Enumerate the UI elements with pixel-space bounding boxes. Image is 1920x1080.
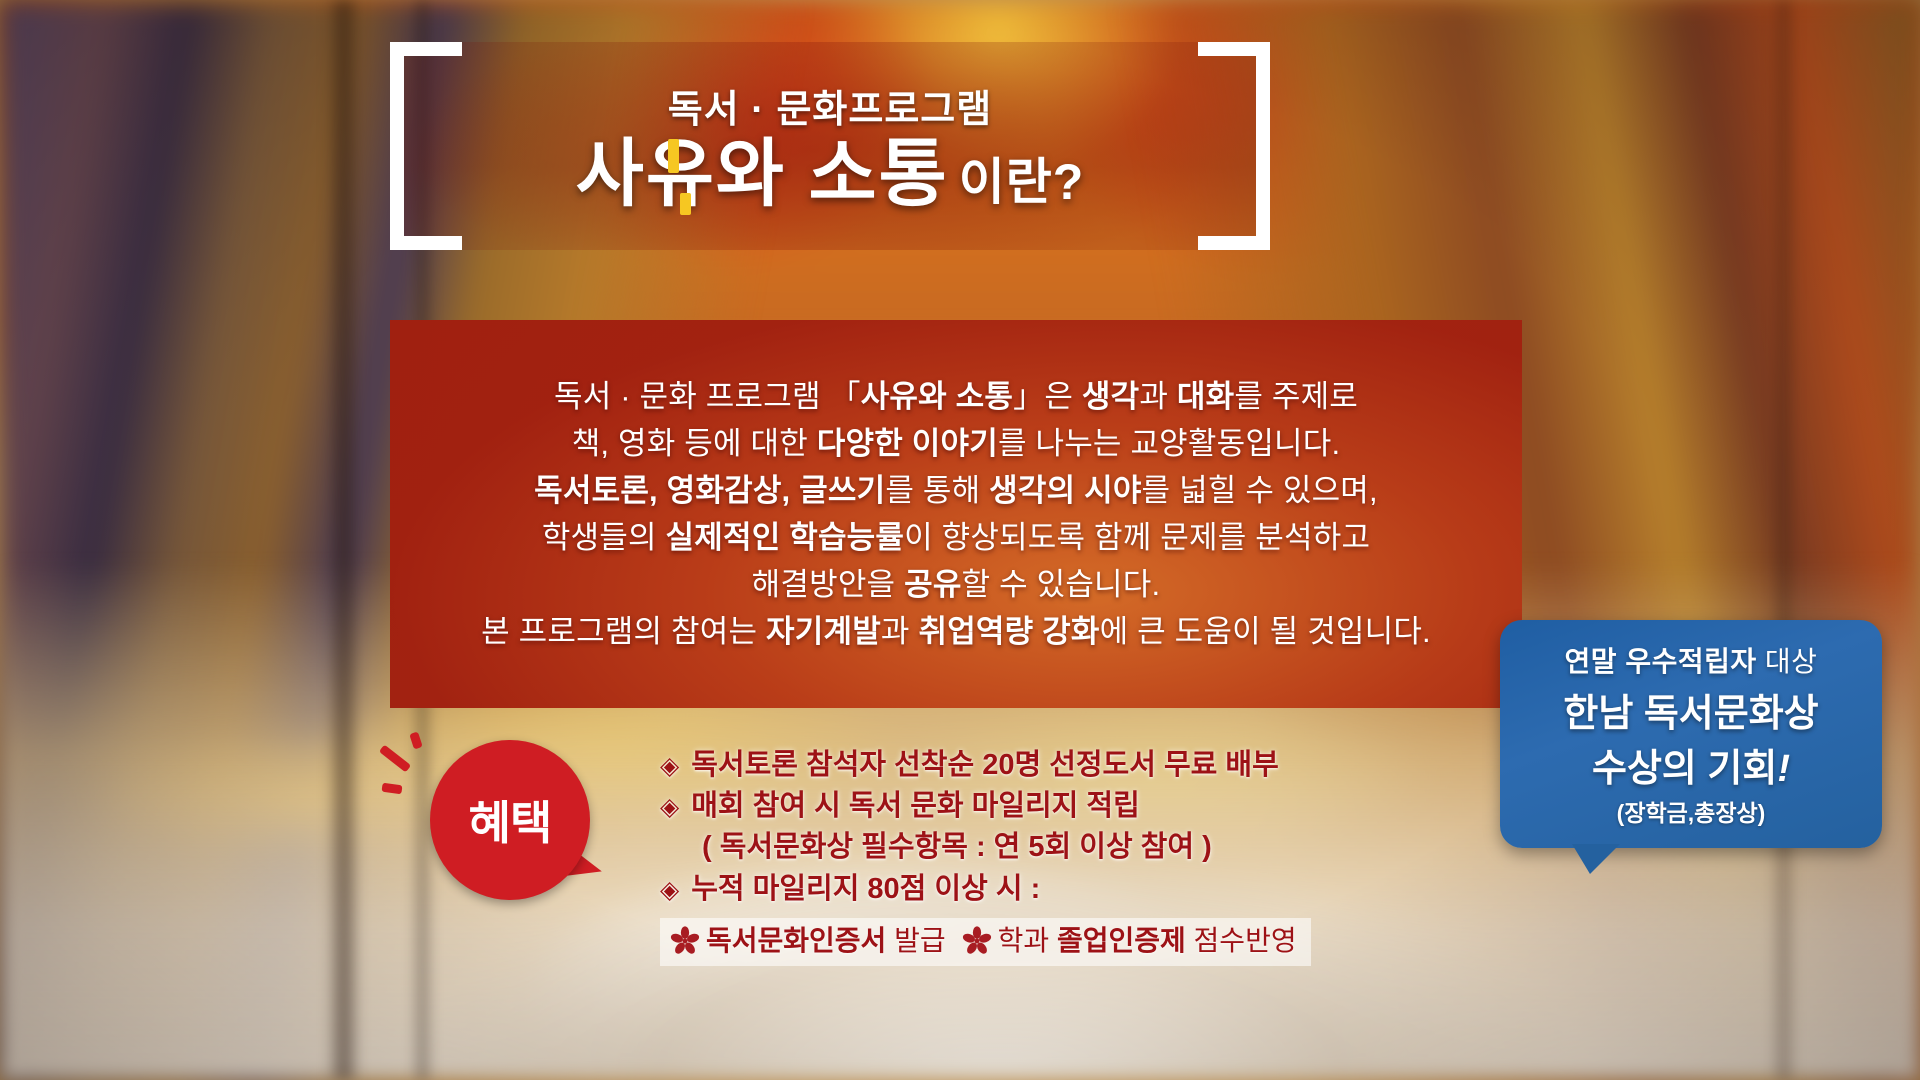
benefit-list-item: ◈독서토론 참석자 선착순 20명 선정도서 무료 배부 (660, 745, 1420, 786)
description-text: 를 넓힐 수 있으며, (1142, 473, 1378, 508)
award-bubble-line-2: 한남 독서문화상 (1516, 682, 1866, 737)
award-bubble-line-1-soft: 대상 (1757, 646, 1818, 677)
description-line: 해결방안을 공유할 수 있습니다. (752, 561, 1161, 608)
description-emphasis: 공유 (904, 567, 961, 602)
description-line: 독서토론, 영화감상, 글쓰기를 통해 생각의 시야를 넓힐 수 있으며, (534, 467, 1378, 514)
certification-text-1: 독서문화인증서 발급 (706, 924, 946, 958)
program-title: 사유와 소통 (576, 137, 949, 211)
description-line: 독서 · 문화 프로그램 「사유와 소통」은 생각과 대화를 주제로 (554, 373, 1358, 420)
description-text: 」은 (1013, 379, 1082, 414)
program-title-suffix: 이란? (959, 142, 1085, 214)
benefit-item-label: ( 독서문화상 필수항목 : 연 5회 이상 참여 ) (702, 827, 1212, 868)
certification-plain: 발급 (886, 925, 945, 956)
award-bubble-line-1: 연말 우수적립자 대상 (1516, 640, 1866, 680)
description-emphasis: 다양한 이야기 (817, 426, 998, 461)
award-speech-bubble: 연말 우수적립자 대상 한남 독서문화상 수상의 기회! (장학금,총장상) (1500, 620, 1882, 848)
description-text: 를 나누는 교양활동입니다. (998, 426, 1340, 461)
description-text: 학생들의 (542, 520, 666, 555)
certification-plain: 점수반영 (1186, 925, 1297, 956)
title-text-group: 독서 · 문화프로그램 사유와 소통 이란? (390, 42, 1270, 250)
description-line: 학생들의 실제적인 학습능률이 향상되도록 함께 문제를 분석하고 (542, 514, 1370, 561)
award-bubble-line-3: 수상의 기회! (1516, 737, 1866, 792)
description-text: 과 (881, 614, 919, 649)
certification-strip: 독서문화인증서 발급 학과 졸업인증제 점수반영 (660, 918, 1311, 966)
title-panel: 독서 · 문화프로그램 사유와 소통 이란? (390, 42, 1270, 250)
benefit-list: ◈독서토론 참석자 선착순 20명 선정도서 무료 배부◈매회 참여 시 독서 … (660, 745, 1420, 910)
certification-emphasis: 독서문화인증서 (706, 925, 886, 956)
program-subtitle: 독서 · 문화프로그램 (668, 78, 992, 133)
certification-item-1: 독서문화인증서 발급 (670, 924, 946, 958)
description-text: 과 (1139, 379, 1177, 414)
diamond-bullet-icon: ◈ (660, 795, 679, 820)
description-text: 할 수 있습니다. (962, 567, 1161, 602)
description-text: 독서 · 문화 프로그램 「 (554, 379, 861, 414)
certification-item-2: 학과 졸업인증제 점수반영 (962, 924, 1297, 958)
description-box: 독서 · 문화 프로그램 「사유와 소통」은 생각과 대화를 주제로책, 영화 … (390, 320, 1522, 708)
flower-icon (962, 926, 992, 956)
benefit-badge-label: 혜택 (469, 787, 552, 853)
certification-plain: 학과 (998, 925, 1057, 956)
description-emphasis: 생각 (1082, 379, 1139, 414)
benefit-item-label: 매회 참여 시 독서 문화 마일리지 적립 (691, 786, 1140, 827)
certification-text-2: 학과 졸업인증제 점수반영 (998, 924, 1297, 958)
benefit-item-label: 독서토론 참석자 선착순 20명 선정도서 무료 배부 (691, 745, 1279, 786)
poster-canvas: 독서 · 문화프로그램 사유와 소통 이란? 독서 · 문화 프로그램 「사유와… (0, 0, 1920, 1080)
certification-emphasis: 졸업인증제 (1057, 925, 1186, 956)
description-text: 에 큰 도움이 될 것입니다. (1100, 614, 1431, 649)
description-line: 본 프로그램의 참여는 자기계발과 취업역량 강화에 큰 도움이 될 것입니다. (481, 608, 1431, 655)
flower-icon (670, 926, 700, 956)
diamond-bullet-icon: ◈ (660, 878, 679, 903)
award-bubble-note: (장학금,총장상) (1516, 794, 1866, 828)
description-text: 책, 영화 등에 대한 (572, 426, 817, 461)
program-title-row: 사유와 소통 이란? (576, 137, 1085, 214)
description-emphasis: 사유와 소통 (861, 379, 1013, 414)
benefit-list-item: ◈매회 참여 시 독서 문화 마일리지 적립 (660, 786, 1420, 827)
benefit-list-item: ( 독서문화상 필수항목 : 연 5회 이상 참여 ) (660, 827, 1420, 868)
description-text: 이 향상되도록 함께 문제를 분석하고 (904, 520, 1370, 555)
description-emphasis: 생각의 시야 (989, 473, 1141, 508)
description-text: 본 프로그램의 참여는 (481, 614, 766, 649)
benefit-item-label: 누적 마일리지 80점 이상 시 : (691, 869, 1040, 910)
description-emphasis: 자기계발 (766, 614, 881, 649)
benefit-list-item: ◈누적 마일리지 80점 이상 시 : (660, 869, 1420, 910)
description-emphasis: 독서토론, 영화감상, 글쓰기 (534, 473, 885, 508)
description-line: 책, 영화 등에 대한 다양한 이야기를 나누는 교양활동입니다. (572, 420, 1341, 467)
award-bubble-line-3-text: 수상의 기회 (1592, 748, 1777, 790)
benefit-badge: 혜택 (430, 740, 590, 900)
badge-circle: 혜택 (430, 740, 590, 900)
program-title-text: 사유와 소통 (576, 132, 949, 215)
description-emphasis: 취업역량 강화 (918, 614, 1099, 649)
description-text: 를 주제로 (1234, 379, 1358, 414)
description-text: 해결방안을 (752, 567, 904, 602)
description-text: 를 통해 (885, 473, 989, 508)
description-emphasis: 대화 (1177, 379, 1234, 414)
award-bubble-line-1-bold: 연말 우수적립자 (1565, 646, 1757, 677)
description-emphasis: 실제적인 학습능률 (666, 520, 905, 555)
award-bubble-exclamation: ! (1777, 748, 1790, 790)
diamond-bullet-icon: ◈ (660, 754, 679, 779)
